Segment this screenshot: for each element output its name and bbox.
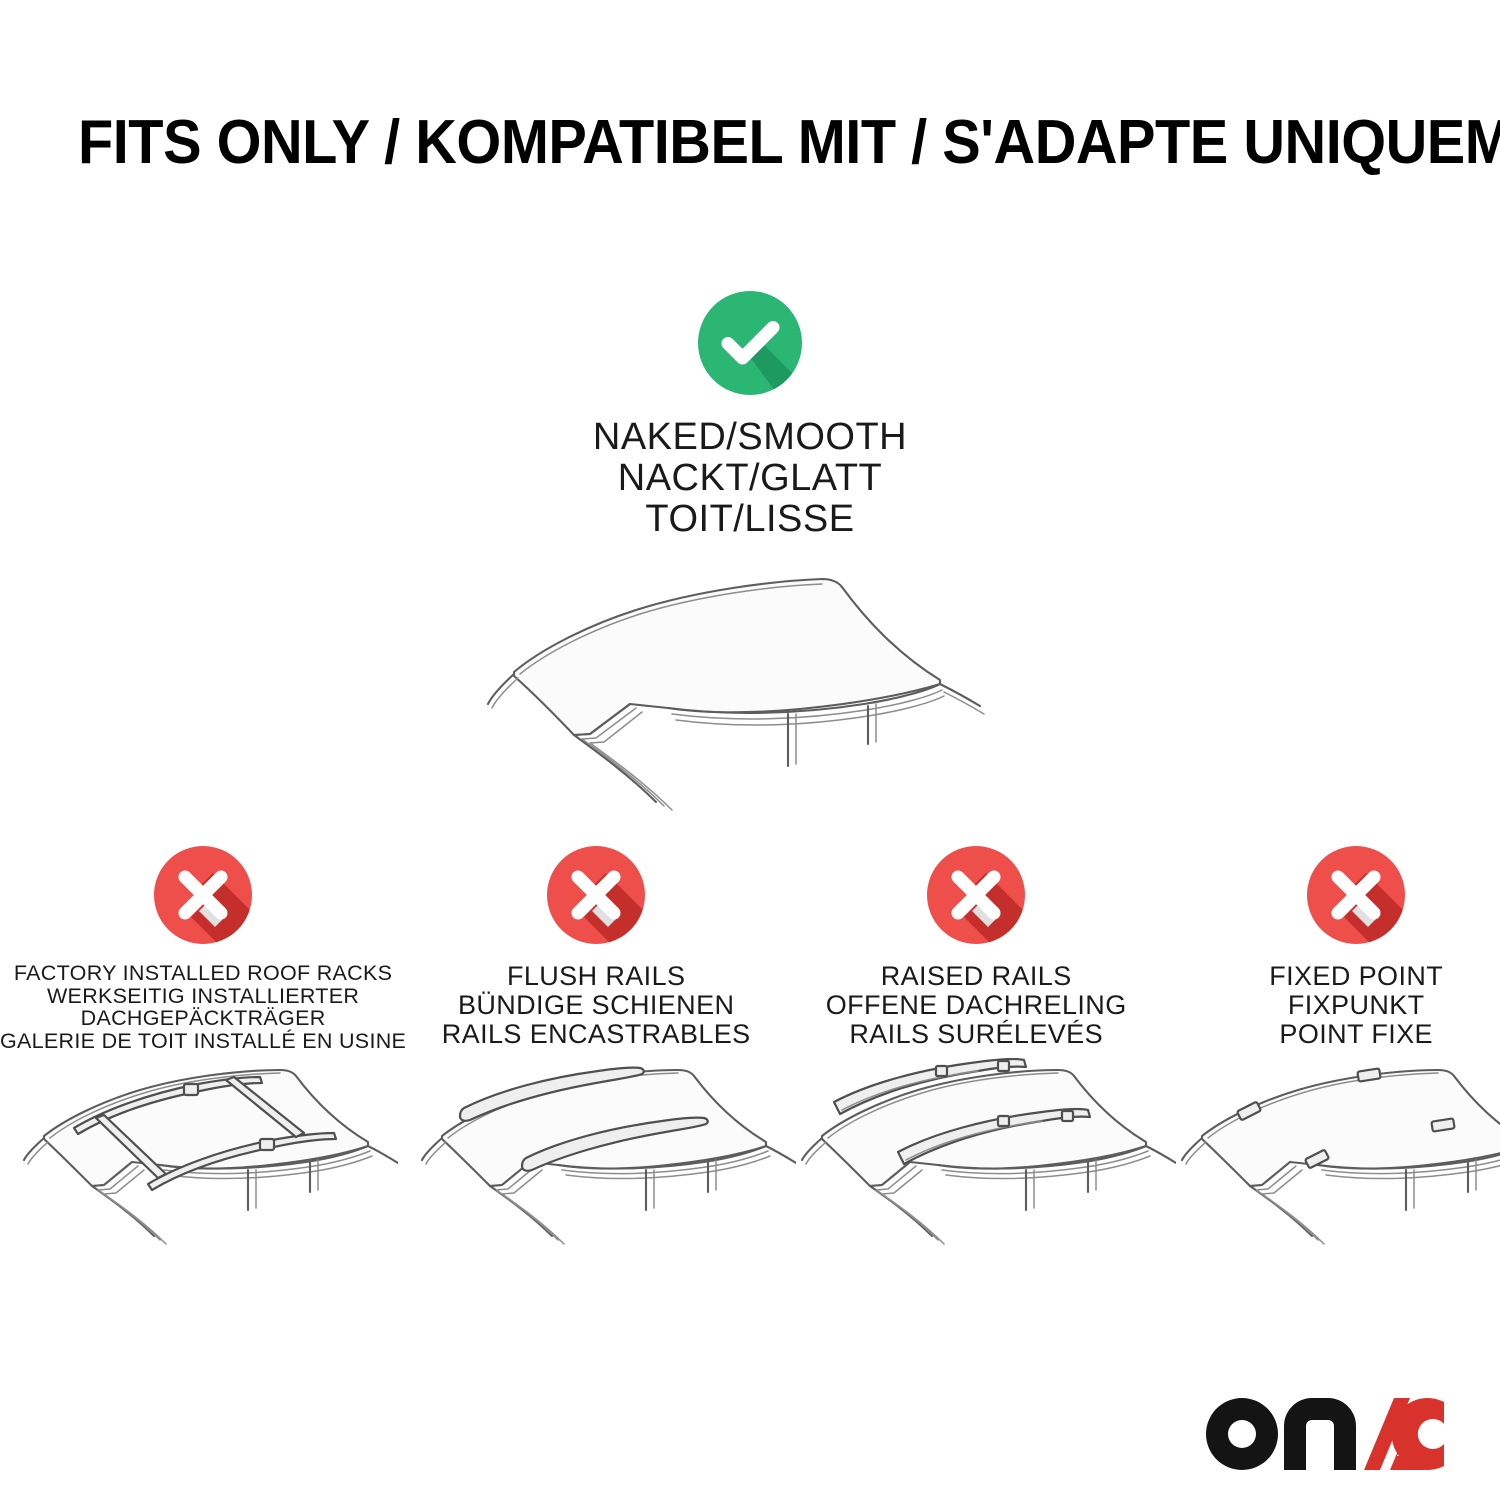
compatible-label: NAKED/SMOOTH NACKT/GLATT TOIT/LISSE bbox=[0, 417, 1500, 540]
omac-logo bbox=[1204, 1396, 1444, 1472]
incompatible-label-flush-rails: FLUSH RAILS BÜNDIGE SCHIENEN RAILS ENCAS… bbox=[406, 962, 786, 1054]
cross-circle-icon bbox=[1306, 845, 1406, 945]
label-line-fr: RAILS ENCASTRABLES bbox=[406, 1020, 786, 1049]
label-line-de-2: DACHGEPÄCKTRÄGER bbox=[0, 1007, 406, 1030]
incompatible-item-factory-racks: FACTORY INSTALLED ROOF RACKS WERKSEITIG … bbox=[0, 845, 406, 1263]
car-roof-naked-smooth-illustration bbox=[470, 554, 1030, 824]
compatible-label-line-fr: TOIT/LISSE bbox=[0, 499, 1500, 540]
page-title: FITS ONLY / KOMPATIBEL MIT / S'ADAPTE UN… bbox=[78, 108, 1334, 178]
incompatible-label-raised-rails: RAISED RAILS OFFENE DACHRELING RAILS SUR… bbox=[786, 962, 1166, 1054]
car-roof-flush-rails-illustration bbox=[406, 1058, 786, 1258]
cross-circle-icon bbox=[546, 845, 646, 945]
incompatible-item-raised-rails: RAISED RAILS OFFENE DACHRELING RAILS SUR… bbox=[786, 845, 1166, 1263]
label-line-de-1: WERKSEITIG INSTALLIERTER bbox=[0, 985, 406, 1008]
car-roof-fixed-point-illustration bbox=[1166, 1058, 1500, 1258]
compatible-label-line-en: NAKED/SMOOTH bbox=[0, 417, 1500, 458]
logo-letter-o bbox=[1206, 1398, 1278, 1470]
cross-circle-icon bbox=[153, 845, 253, 945]
label-line-de: BÜNDIGE SCHIENEN bbox=[406, 991, 786, 1020]
label-line-en: FIXED POINT bbox=[1166, 962, 1500, 991]
cross-circle-icon bbox=[926, 845, 1026, 945]
label-line-en: FLUSH RAILS bbox=[406, 962, 786, 991]
compatible-section: NAKED/SMOOTH NACKT/GLATT TOIT/LISSE bbox=[0, 290, 1500, 829]
label-line-fr: GALERIE DE TOIT INSTALLÉ EN USINE bbox=[0, 1030, 406, 1053]
check-circle-icon bbox=[697, 290, 803, 396]
label-line-en: FACTORY INSTALLED ROOF RACKS bbox=[0, 962, 406, 985]
label-line-fr: POINT FIXE bbox=[1166, 1020, 1500, 1049]
logo-letter-m bbox=[1284, 1398, 1356, 1470]
label-line-de: FIXPUNKT bbox=[1166, 991, 1500, 1020]
label-line-en: RAISED RAILS bbox=[786, 962, 1166, 991]
incompatible-item-fixed-point: FIXED POINT FIXPUNKT POINT FIXE bbox=[1166, 845, 1500, 1263]
car-roof-raised-rails-illustration bbox=[786, 1058, 1166, 1258]
label-line-fr: RAILS SURÉLEVÉS bbox=[786, 1020, 1166, 1049]
incompatible-section: FACTORY INSTALLED ROOF RACKS WERKSEITIG … bbox=[0, 845, 1500, 1263]
compatible-label-line-de: NACKT/GLATT bbox=[0, 458, 1500, 499]
car-roof-factory-racks-illustration bbox=[8, 1058, 398, 1258]
incompatible-item-flush-rails: FLUSH RAILS BÜNDIGE SCHIENEN RAILS ENCAS… bbox=[406, 845, 786, 1263]
label-line-de: OFFENE DACHRELING bbox=[786, 991, 1166, 1020]
incompatible-label-factory-racks: FACTORY INSTALLED ROOF RACKS WERKSEITIG … bbox=[0, 962, 406, 1054]
incompatible-label-fixed-point: FIXED POINT FIXPUNKT POINT FIXE bbox=[1166, 962, 1500, 1054]
